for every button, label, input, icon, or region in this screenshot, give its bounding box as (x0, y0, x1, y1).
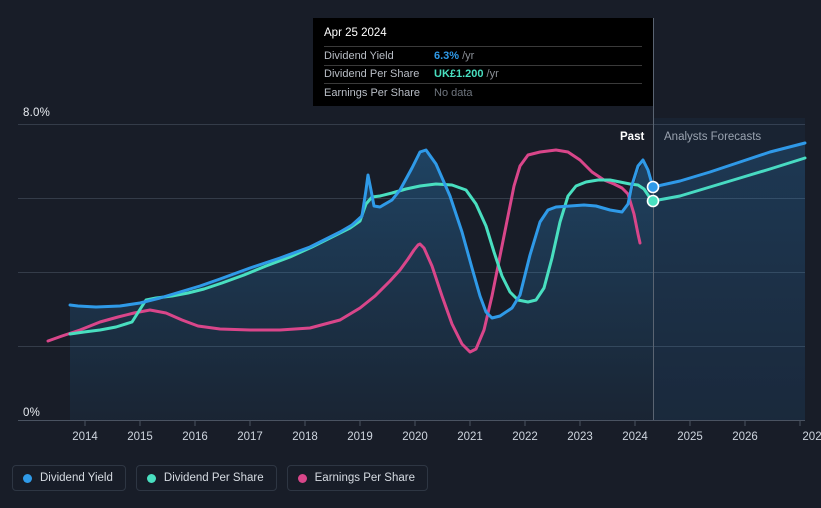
marker-dividend-per-share[interactable] (648, 196, 659, 207)
legend-label-earnings-per-share: Earnings Per Share (315, 472, 415, 484)
legend-dot-icon-earnings-per-share (298, 474, 307, 483)
chart-tooltip: Apr 25 2024 Dividend Yield 6.3% /yr Divi… (313, 18, 653, 106)
legend-label-dividend-per-share: Dividend Per Share (164, 472, 264, 484)
x-tick-2015: 2015 (127, 431, 153, 443)
y-axis-label-min: 0% (23, 407, 40, 419)
tooltip-label-dividend-yield: Dividend Yield (324, 50, 434, 62)
tooltip-unit-dividend-per-share: /yr (487, 68, 499, 80)
y-axis-label-max: 8.0% (23, 107, 50, 119)
tooltip-unit-dividend-yield: /yr (462, 50, 474, 62)
legend-item-dividend-per-share[interactable]: Dividend Per Share (136, 465, 277, 491)
chart-legend: Dividend Yield Dividend Per Share Earnin… (12, 465, 428, 491)
tooltip-row-earnings-per-share: Earnings Per Share No data (324, 83, 642, 102)
x-tick-2020: 2020 (402, 431, 428, 443)
x-tick-2027: 202 (802, 431, 821, 443)
legend-item-earnings-per-share[interactable]: Earnings Per Share (287, 465, 428, 491)
tooltip-date: Apr 25 2024 (324, 27, 642, 46)
x-tick-2025: 2025 (677, 431, 703, 443)
legend-item-dividend-yield[interactable]: Dividend Yield (12, 465, 126, 491)
forecast-period-label: Analysts Forecasts (664, 131, 761, 143)
tooltip-value-dividend-per-share: UK£1.200 (434, 68, 484, 80)
x-tick-2022: 2022 (512, 431, 538, 443)
past-period-label: Past (620, 131, 644, 143)
x-tick-2024: 2024 (622, 431, 648, 443)
tooltip-row-dividend-yield: Dividend Yield 6.3% /yr (324, 46, 642, 65)
forecast-region-shading (653, 118, 805, 421)
legend-dot-icon-dividend-yield (23, 474, 32, 483)
tooltip-value-earnings-per-share: No data (434, 87, 473, 99)
x-axis: 2014 2015 2016 2017 2018 2019 2020 2021 … (0, 431, 821, 451)
tooltip-row-dividend-per-share: Dividend Per Share UK£1.200 /yr (324, 65, 642, 84)
dividend-chart: 8.0% 0% 2014 2015 2016 2017 2018 2019 20… (0, 0, 821, 508)
x-tick-2014: 2014 (72, 431, 98, 443)
x-tick-2026: 2026 (732, 431, 758, 443)
legend-label-dividend-yield: Dividend Yield (40, 472, 113, 484)
x-tick-2018: 2018 (292, 431, 318, 443)
x-tick-2023: 2023 (567, 431, 593, 443)
tooltip-label-earnings-per-share: Earnings Per Share (324, 87, 434, 99)
x-tick-2017: 2017 (237, 431, 263, 443)
x-tick-2016: 2016 (182, 431, 208, 443)
tooltip-value-dividend-yield: 6.3% (434, 50, 459, 62)
x-tick-marks (85, 421, 800, 426)
legend-dot-icon-dividend-per-share (147, 474, 156, 483)
x-tick-2019: 2019 (347, 431, 373, 443)
tooltip-label-dividend-per-share: Dividend Per Share (324, 68, 434, 80)
marker-dividend-yield[interactable] (648, 182, 659, 193)
x-tick-2021: 2021 (457, 431, 483, 443)
